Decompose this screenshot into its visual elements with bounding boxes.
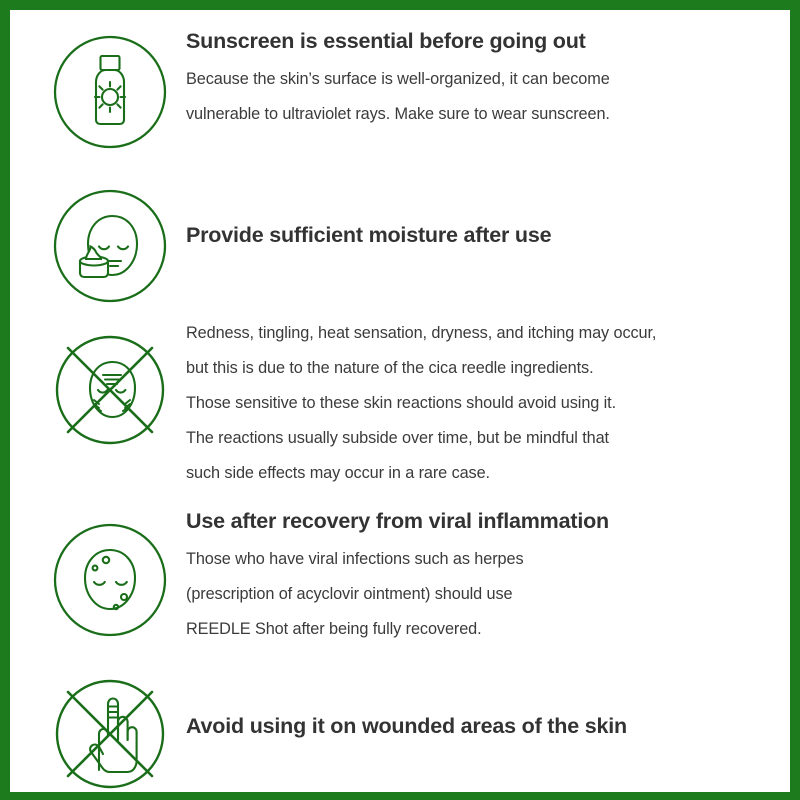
body-line: Those who have viral infections such as …: [186, 542, 790, 577]
icon-cell-5: [48, 660, 172, 792]
icon-cell-1: [48, 28, 172, 150]
section-moisture: Provide sufficient moisture after use: [48, 186, 790, 304]
section-body: Those who have viral infections such as …: [186, 542, 790, 647]
body-line: Because the skin’s surface is well-organ…: [186, 62, 790, 97]
section-body: Because the skin’s surface is well-organ…: [186, 62, 790, 132]
section-heading: Sunscreen is essential before going out: [186, 28, 790, 56]
section-wounded-areas: Avoid using it on wounded areas of the s…: [48, 660, 790, 792]
body-line: such side effects may occur in a rare ca…: [186, 456, 790, 491]
section-viral-inflammation: Use after recovery from viral inflammati…: [48, 508, 790, 647]
text-cell-4: Use after recovery from viral inflammati…: [172, 508, 790, 647]
face-with-blemishes-icon: [52, 522, 168, 638]
face-with-cream-jar-icon: [52, 188, 168, 304]
icon-cell-3: [48, 316, 172, 450]
section-body: Redness, tingling, heat sensation, dryne…: [186, 316, 790, 491]
body-line: (prescription of acyclovir ointment) sho…: [186, 577, 790, 612]
section-skin-reactions: Redness, tingling, heat sensation, dryne…: [48, 316, 790, 491]
body-line: vulnerable to ultraviolet rays. Make sur…: [186, 97, 790, 132]
bandaged-hand-prohibited-icon: [50, 674, 170, 792]
section-heading: Provide sufficient moisture after use: [186, 222, 790, 250]
section-heading: Use after recovery from viral inflammati…: [186, 508, 790, 536]
text-cell-3: Redness, tingling, heat sensation, dryne…: [172, 316, 790, 491]
body-line: but this is due to the nature of the cic…: [186, 351, 790, 386]
section-sunscreen: Sunscreen is essential before going out …: [48, 28, 790, 150]
body-line: REEDLE Shot after being fully recovered.: [186, 612, 790, 647]
icon-cell-4: [48, 508, 172, 638]
text-cell-5: Avoid using it on wounded areas of the s…: [172, 660, 790, 741]
text-cell-1: Sunscreen is essential before going out …: [172, 28, 790, 132]
body-line: The reactions usually subside over time,…: [186, 421, 790, 456]
body-line: Those sensitive to these skin reactions …: [186, 386, 790, 421]
infographic-page: Sunscreen is essential before going out …: [0, 0, 800, 800]
irritated-face-prohibited-icon: [50, 330, 170, 450]
sunscreen-bottle-icon: [52, 34, 168, 150]
icon-cell-2: [48, 186, 172, 304]
content-canvas: Sunscreen is essential before going out …: [10, 10, 790, 792]
section-heading: Avoid using it on wounded areas of the s…: [186, 713, 790, 741]
body-line: Redness, tingling, heat sensation, dryne…: [186, 316, 790, 351]
text-cell-2: Provide sufficient moisture after use: [172, 186, 790, 250]
